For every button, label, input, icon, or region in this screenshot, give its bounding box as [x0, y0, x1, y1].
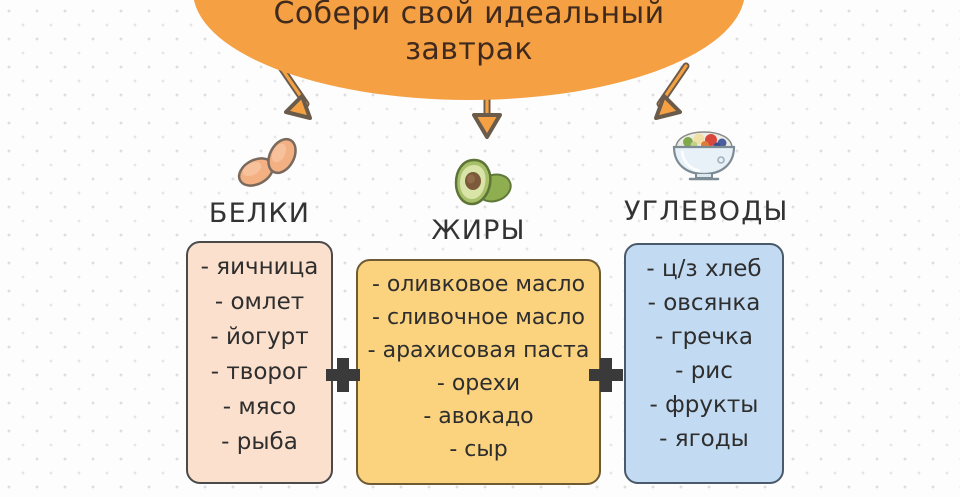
list-item: - рис [675, 354, 733, 388]
list-item: - сливочное масло [372, 301, 585, 334]
list-item: - творог [211, 355, 308, 390]
heading-proteins: БЕЛКИ [186, 199, 333, 229]
list-item: - гречка [655, 320, 753, 354]
page-title: Собери свой идеальный завтрак [193, 0, 745, 68]
list-item: - оливковое масло [372, 268, 585, 301]
list-item: - ц/з хлеб [646, 252, 761, 286]
list-item: - овсянка [648, 286, 761, 320]
list-item: - орехи [437, 367, 520, 400]
plus-fats-carbs [589, 358, 623, 392]
list-item: - авокадо [423, 400, 533, 433]
heading-carbs: УГЛЕВОДЫ [624, 197, 784, 227]
avocado-icon [452, 156, 518, 214]
list-item: - ягоды [659, 422, 749, 456]
card-proteins: - яичница - омлет - йогурт - творог - мя… [186, 241, 333, 484]
heading-fats: ЖИРЫ [356, 216, 601, 246]
list-item: - омлет [215, 285, 304, 320]
list-item: - сыр [449, 433, 507, 466]
list-item: - мясо [223, 390, 297, 425]
infographic-canvas: Собери свой идеальный завтрак [0, 0, 960, 497]
list-item: - яичница [201, 250, 319, 285]
fruit-bowl-icon [668, 126, 740, 188]
plus-proteins-fats [326, 358, 360, 392]
card-fats: - оливковое масло - сливочное масло - ар… [356, 259, 601, 485]
eggs-icon [234, 136, 300, 196]
list-item: - фрукты [650, 388, 759, 422]
list-item: - арахисовая паста [368, 334, 590, 367]
list-item: - рыба [221, 425, 298, 460]
list-item: - йогурт [210, 320, 308, 355]
card-carbs: - ц/з хлеб - овсянка - гречка - рис - фр… [624, 243, 784, 484]
